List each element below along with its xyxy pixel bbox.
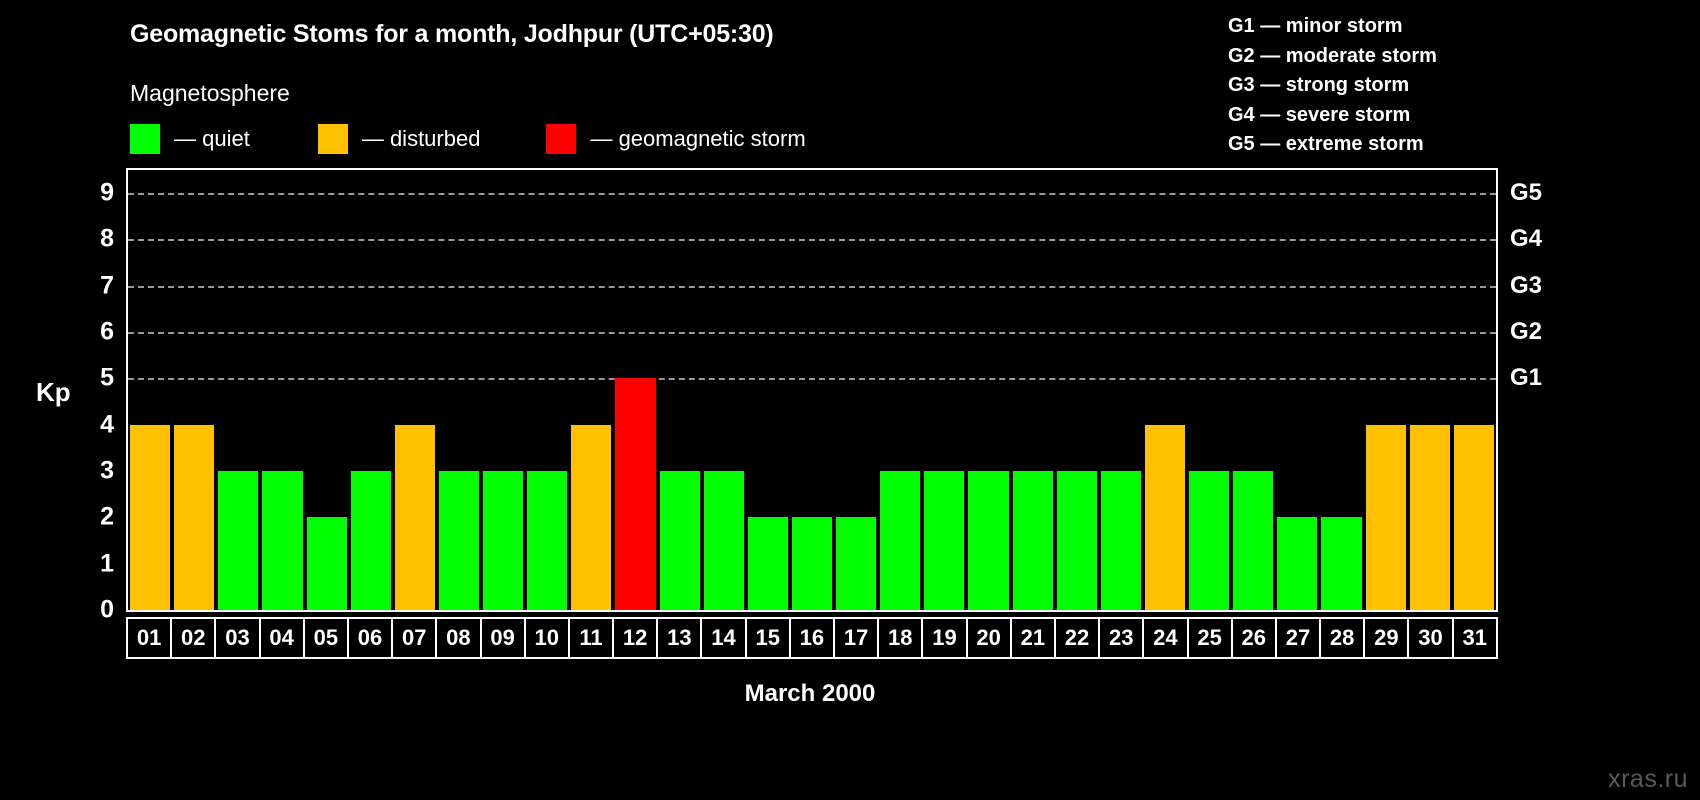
- bar-day-31: [1454, 425, 1494, 610]
- quiet-color-swatch: [130, 124, 160, 154]
- day-label-18: 18: [877, 617, 923, 659]
- day-label-27: 27: [1275, 617, 1321, 659]
- day-label-16: 16: [789, 617, 835, 659]
- chart-page: Geomagnetic Stoms for a month, Jodhpur (…: [0, 0, 1700, 800]
- day-label-22: 22: [1054, 617, 1100, 659]
- bar-day-30: [1410, 425, 1450, 610]
- g-scale-legend-line-g4: G4 — severe storm: [1228, 101, 1437, 131]
- day-label-05: 05: [303, 617, 349, 659]
- bar-day-09: [483, 471, 523, 610]
- day-label-01: 01: [126, 617, 172, 659]
- day-label-04: 04: [259, 617, 305, 659]
- y-tick-label-3: 3: [74, 457, 114, 486]
- day-label-14: 14: [700, 617, 746, 659]
- day-label-07: 07: [391, 617, 437, 659]
- g-tick-label-g4: G4: [1510, 225, 1542, 253]
- bar-series: [128, 170, 1496, 610]
- bar-day-11: [571, 425, 611, 610]
- y-tick-label-0: 0: [74, 596, 114, 625]
- bar-day-16: [792, 517, 832, 610]
- day-label-15: 15: [745, 617, 791, 659]
- y-tick-label-2: 2: [74, 503, 114, 532]
- g-scale-legend-line-g1: G1 — minor storm: [1228, 12, 1437, 42]
- bar-day-22: [1057, 471, 1097, 610]
- bar-day-04: [262, 471, 302, 610]
- watermark: xras.ru: [1608, 765, 1688, 794]
- day-label-24: 24: [1142, 617, 1188, 659]
- bar-day-27: [1277, 517, 1317, 610]
- bar-day-21: [1013, 471, 1053, 610]
- legend-label-geomagnetic-storm: — geomagnetic storm: [590, 126, 805, 152]
- legend-item-quiet: — quiet: [130, 124, 250, 154]
- g-scale-axis: G5G4G3G2G1: [1510, 168, 1580, 612]
- bar-day-13: [660, 471, 700, 610]
- day-label-02: 02: [170, 617, 216, 659]
- legend-item-disturbed: — disturbed: [318, 124, 481, 154]
- g-scale-legend-line-g3: G3 — strong storm: [1228, 71, 1437, 101]
- y-tick-label-4: 4: [74, 410, 114, 439]
- bar-day-29: [1366, 425, 1406, 610]
- magnetosphere-legend: — quiet — disturbed — geomagnetic storm: [130, 124, 806, 154]
- bar-day-24: [1145, 425, 1185, 610]
- y-tick-label-7: 7: [74, 271, 114, 300]
- bar-day-08: [439, 471, 479, 610]
- day-label-08: 08: [435, 617, 481, 659]
- bar-day-15: [748, 517, 788, 610]
- day-label-17: 17: [833, 617, 879, 659]
- bar-day-28: [1321, 517, 1361, 610]
- day-label-21: 21: [1010, 617, 1056, 659]
- bar-day-20: [968, 471, 1008, 610]
- day-label-30: 30: [1407, 617, 1453, 659]
- g-tick-label-g1: G1: [1510, 364, 1542, 392]
- bar-day-12: [615, 378, 655, 610]
- y-axis-title: Kp: [36, 377, 71, 408]
- bar-day-10: [527, 471, 567, 610]
- bar-day-23: [1101, 471, 1141, 610]
- legend-item-geomagnetic-storm: — geomagnetic storm: [546, 124, 805, 154]
- day-label-10: 10: [524, 617, 570, 659]
- day-label-06: 06: [347, 617, 393, 659]
- y-tick-label-5: 5: [74, 364, 114, 393]
- y-tick-label-9: 9: [74, 179, 114, 208]
- bar-day-17: [836, 517, 876, 610]
- y-tick-label-1: 1: [74, 549, 114, 578]
- bar-day-07: [395, 425, 435, 610]
- day-label-strip: 0102030405060708091011121314151617181920…: [126, 617, 1498, 659]
- day-label-31: 31: [1452, 617, 1498, 659]
- day-label-19: 19: [921, 617, 967, 659]
- x-axis-title: March 2000: [0, 680, 1620, 708]
- day-label-12: 12: [612, 617, 658, 659]
- day-label-29: 29: [1363, 617, 1409, 659]
- bar-day-18: [880, 471, 920, 610]
- day-label-28: 28: [1319, 617, 1365, 659]
- legend-label-disturbed: — disturbed: [362, 126, 481, 152]
- day-label-13: 13: [656, 617, 702, 659]
- day-label-20: 20: [966, 617, 1012, 659]
- g-tick-label-g2: G2: [1510, 318, 1542, 346]
- day-label-11: 11: [568, 617, 614, 659]
- bar-day-06: [351, 471, 391, 610]
- day-label-26: 26: [1231, 617, 1277, 659]
- legend-heading: Magnetosphere: [130, 80, 290, 107]
- legend-label-quiet: — quiet: [174, 126, 250, 152]
- bar-day-02: [174, 425, 214, 610]
- day-label-25: 25: [1187, 617, 1233, 659]
- geomagnetic-storm-color-swatch: [546, 124, 576, 154]
- bar-day-25: [1189, 471, 1229, 610]
- y-tick-label-8: 8: [74, 225, 114, 254]
- bar-day-14: [704, 471, 744, 610]
- g-scale-legend: G1 — minor storm G2 — moderate storm G3 …: [1228, 12, 1437, 160]
- page-title: Geomagnetic Stoms for a month, Jodhpur (…: [130, 20, 774, 49]
- bar-day-03: [218, 471, 258, 610]
- day-label-23: 23: [1098, 617, 1144, 659]
- g-scale-legend-line-g5: G5 — extreme storm: [1228, 130, 1437, 160]
- y-axis-ticks: 9876543210: [70, 168, 114, 612]
- day-label-03: 03: [214, 617, 260, 659]
- day-label-09: 09: [480, 617, 526, 659]
- g-tick-label-g3: G3: [1510, 272, 1542, 300]
- g-tick-label-g5: G5: [1510, 179, 1542, 207]
- y-tick-label-6: 6: [74, 318, 114, 347]
- g-scale-legend-line-g2: G2 — moderate storm: [1228, 42, 1437, 72]
- bar-day-26: [1233, 471, 1273, 610]
- bar-day-19: [924, 471, 964, 610]
- bar-day-01: [130, 425, 170, 610]
- disturbed-color-swatch: [318, 124, 348, 154]
- bar-day-05: [307, 517, 347, 610]
